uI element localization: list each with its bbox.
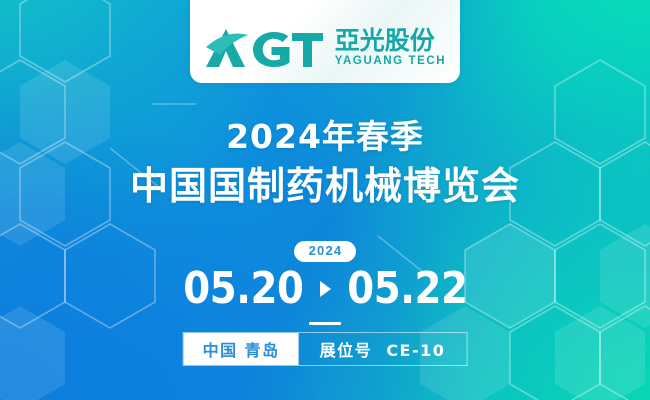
logo-wordmark: 亞光股份 YAGUANG TECH	[335, 28, 446, 68]
company-logo-card: 亞光股份 YAGUANG TECH	[190, 0, 460, 83]
event-start-date: 05.20	[183, 267, 303, 311]
agt-mountain-logo-icon	[204, 25, 326, 71]
venue-booth-label: 展位号 CE-10	[299, 333, 467, 365]
exhibition-banner: 亞光股份 YAGUANG TECH 2024年春季 中国国制药机械博览会 202…	[0, 0, 650, 400]
venue-info-bar: 中国 青岛 展位号 CE-10	[183, 332, 468, 366]
event-date-block: 2024 05.20 05.22	[0, 241, 650, 325]
event-end-date: 05.22	[347, 267, 467, 311]
event-year-badge: 2024	[294, 241, 357, 262]
headline-season-line: 2024年春季	[0, 118, 650, 157]
triangle-right-icon	[320, 281, 331, 297]
date-underline-rule	[309, 322, 341, 325]
event-date-range: 05.20 05.22	[175, 267, 475, 311]
logo-company-name-en: YAGUANG TECH	[335, 56, 446, 68]
headline-event-name-line: 中国国制药机械博览会	[0, 163, 650, 211]
event-headline: 2024年春季 中国国制药机械博览会	[0, 118, 650, 210]
logo-inner-group: 亞光股份 YAGUANG TECH	[204, 25, 446, 71]
logo-company-name-cn: 亞光股份	[335, 28, 435, 53]
venue-city-label: 中国 青岛	[184, 333, 299, 365]
